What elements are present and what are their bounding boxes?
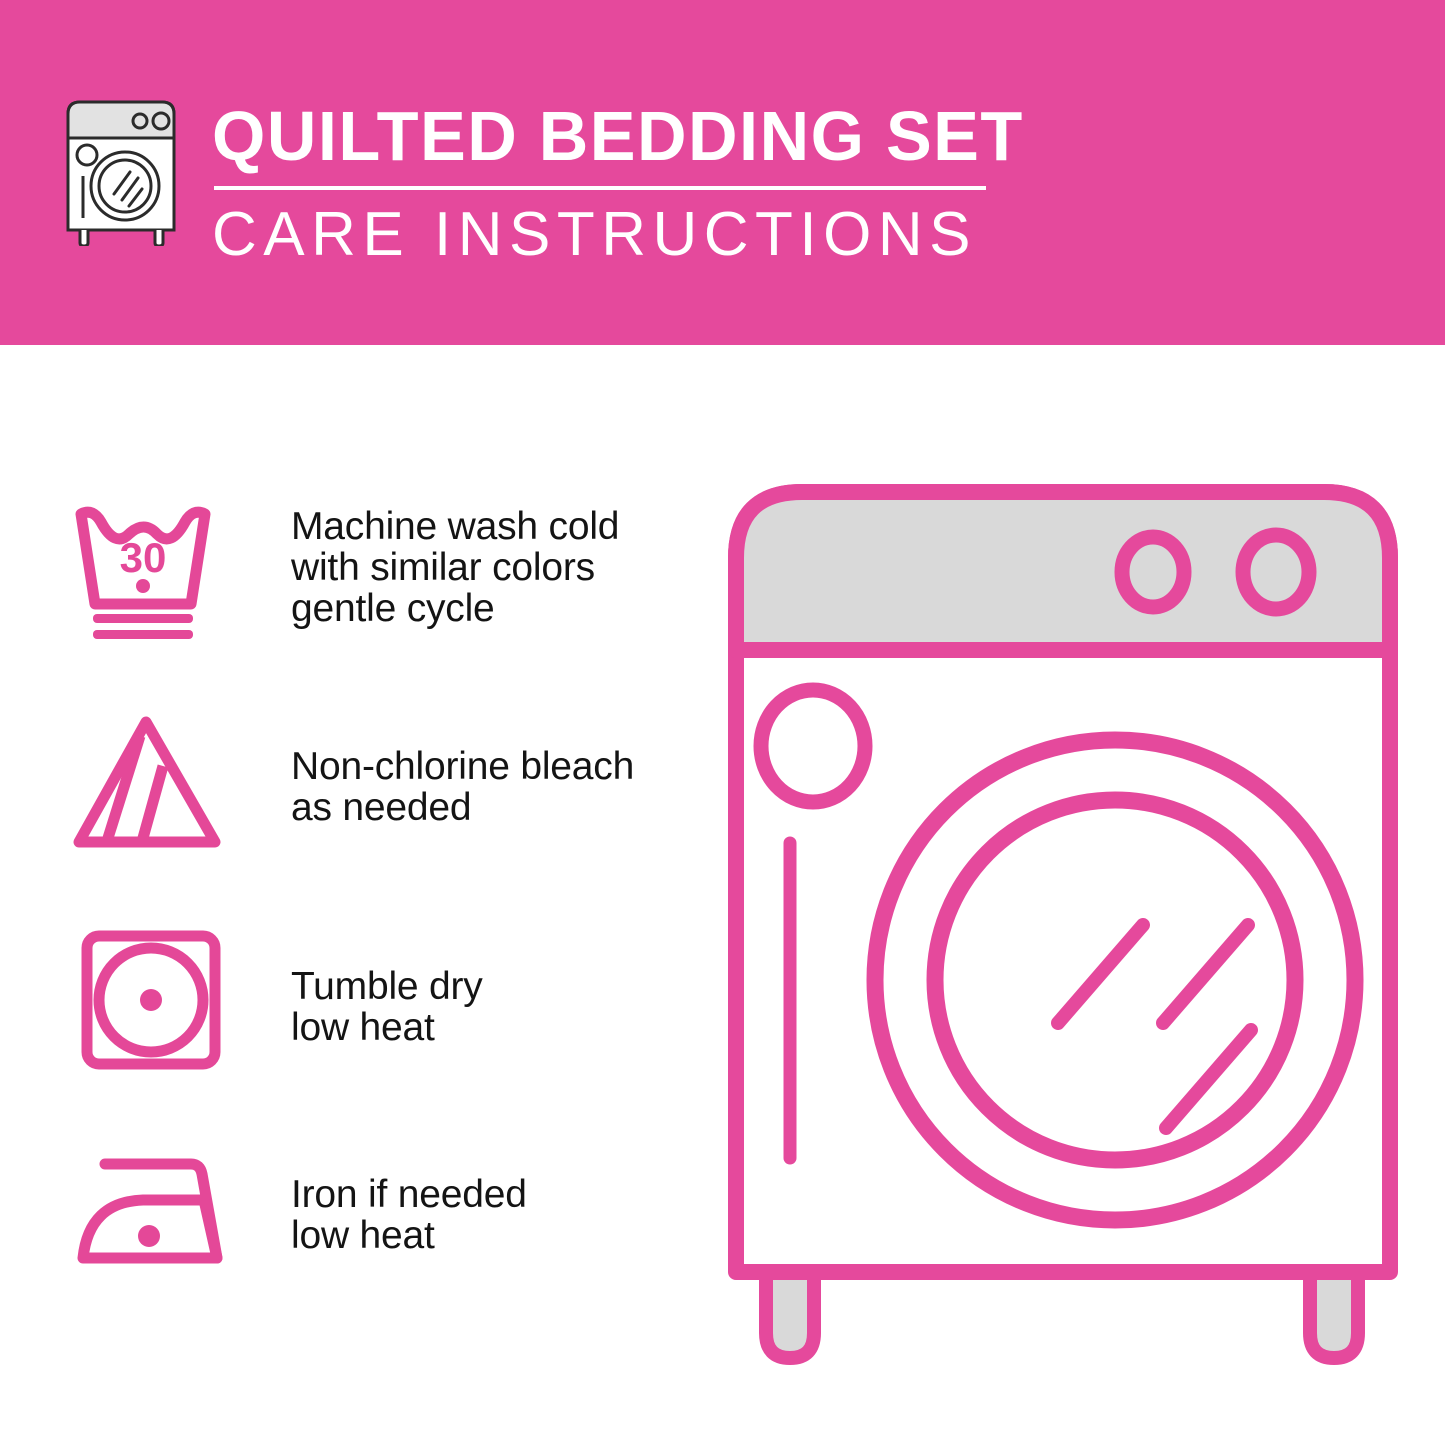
machine-legs xyxy=(766,1268,1358,1358)
page-subtitle: CARE INSTRUCTIONS xyxy=(212,202,1040,268)
care-instructions-infographic: QUILTED BEDDING SET CARE INSTRUCTIONS 30 xyxy=(0,0,1445,1445)
page-title: QUILTED BEDDING SET xyxy=(212,100,1024,172)
machine-wash-30-gentle-icon: 30 xyxy=(64,488,239,642)
care-row-iron: Iron if needed low heat xyxy=(64,1136,684,1352)
care-row-bleach: Non-chlorine bleach as needed xyxy=(64,704,684,920)
header-divider xyxy=(214,186,986,190)
care-row-tumble-dry: Tumble dry low heat xyxy=(64,920,684,1136)
care-row-machine-wash: 30 Machine wash cold with similar colors… xyxy=(64,488,684,704)
non-chlorine-bleach-icon xyxy=(64,704,239,858)
care-label-iron: Iron if needed low heat xyxy=(239,1136,684,1256)
header-text-block: QUILTED BEDDING SET CARE INSTRUCTIONS xyxy=(212,96,1040,268)
header-banner: QUILTED BEDDING SET CARE INSTRUCTIONS xyxy=(0,0,1445,345)
care-label-tumble-dry: Tumble dry low heat xyxy=(239,920,684,1048)
care-instruction-list: 30 Machine wash cold with similar colors… xyxy=(64,488,684,1352)
svg-text:30: 30 xyxy=(119,534,166,581)
washing-machine-icon xyxy=(60,96,182,246)
header-content: QUILTED BEDDING SET CARE INSTRUCTIONS xyxy=(60,96,1040,268)
care-label-machine-wash: Machine wash cold with similar colors ge… xyxy=(239,488,684,629)
tumble-dry-low-icon xyxy=(64,920,239,1074)
care-label-bleach: Non-chlorine bleach as needed xyxy=(239,704,684,828)
washing-machine-illustration xyxy=(718,478,1418,1378)
iron-low-heat-icon xyxy=(64,1136,239,1290)
